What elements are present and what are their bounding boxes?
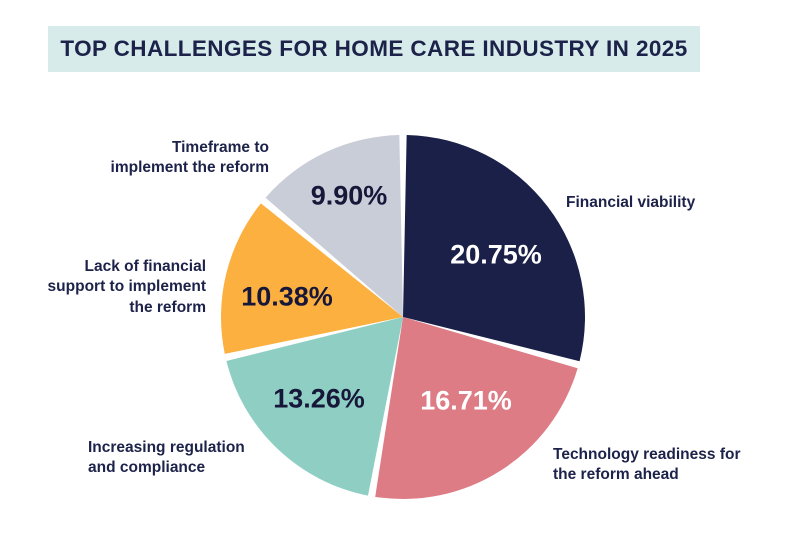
category-label-lack-of-financial-support-line-3: the reform <box>48 298 206 318</box>
category-label-timeframe: Timeframe to implement the reform <box>111 138 269 179</box>
slice-value-timeframe: 9.90% <box>311 181 388 212</box>
category-label-technology-readiness-line-1: Technology readiness for <box>553 445 740 465</box>
infographic-canvas: TOP CHALLENGES FOR HOME CARE INDUSTRY IN… <box>0 0 800 546</box>
slice-value-technology-readiness: 16.71% <box>420 386 512 417</box>
category-label-lack-of-financial-support: Lack of financial support to implement t… <box>48 257 206 318</box>
slice-value-lack-of-financial-support: 10.38% <box>241 282 333 313</box>
category-label-financial-viability: Financial viability <box>566 193 695 213</box>
category-label-timeframe-line-1: Timeframe to <box>111 138 269 158</box>
category-label-technology-readiness-line-2: the reform ahead <box>553 465 740 485</box>
category-label-financial-viability-line-1: Financial viability <box>566 193 695 213</box>
slice-value-financial-viability: 20.75% <box>450 240 542 271</box>
category-label-timeframe-line-2: implement the reform <box>111 158 269 178</box>
category-label-increasing-regulation-line-2: and compliance <box>88 458 245 478</box>
category-label-increasing-regulation-line-1: Increasing regulation <box>88 438 245 458</box>
category-label-technology-readiness: Technology readiness for the reform ahea… <box>553 445 740 486</box>
category-label-increasing-regulation: Increasing regulation and compliance <box>88 438 245 479</box>
slice-value-increasing-regulation: 13.26% <box>273 384 365 415</box>
category-label-lack-of-financial-support-line-1: Lack of financial <box>48 257 206 277</box>
category-label-lack-of-financial-support-line-2: support to implement <box>48 277 206 297</box>
